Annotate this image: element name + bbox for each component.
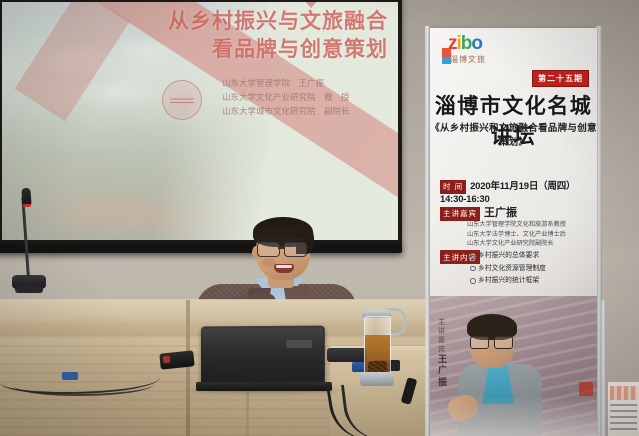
banner-photo-red-mark [579, 382, 593, 396]
banner-speaker-photo: 主讲嘉宾 王广振 [430, 296, 597, 436]
slide-credit-line: 山东大学城市文化研究院 副院长 [222, 104, 386, 118]
lecture-room-photo: 从乡村振兴与文旅融合 看品牌与创意策划 山东大学管理学院 王广振 山东大学文化产… [0, 0, 639, 436]
zibo-logo: zibo 淄博文旅 [448, 34, 512, 64]
secondary-poster-pole [601, 300, 606, 436]
microphone-led-indicator [23, 204, 31, 208]
speaker-name: 王广振 [484, 207, 517, 219]
topic-item: 乡村文化资源管理制度 [470, 263, 546, 276]
issue-number-badge: 第二十五期 [532, 70, 589, 87]
secondary-poster [608, 382, 639, 436]
microphone-base-lower [15, 286, 43, 293]
slide-credit-line: 山东大学文化产业研究院 教 授 [222, 90, 386, 104]
banner-photo-lens-right [494, 336, 513, 349]
banner-topic-list: 乡村振兴的总体要求 乡村文化资源管理制度 乡村振兴的统计框架 [470, 250, 546, 288]
zibo-letter-b: b [461, 33, 472, 54]
speaker-bio-line: 山东大学法学博士、文化产业博士后 [467, 230, 566, 240]
speaker-bio-line: 山东大学管理学院文化和旅游系教授 [467, 220, 566, 230]
projection-screen: 从乡村振兴与文旅融合 看品牌与创意策划 山东大学管理学院 王广振 山东大学文化产… [2, 2, 398, 240]
laptop-base[interactable] [196, 382, 332, 391]
phone-accessory [163, 356, 171, 364]
glasses-icon [256, 242, 310, 256]
secondary-poster-text-block [610, 404, 637, 430]
tumbler-base-ring [360, 372, 394, 386]
slide-credits: 山东大学管理学院 王广振 山东大学文化产业研究院 教 授 山东大学城市文化研究院… [176, 76, 386, 118]
banner-photo-mist-overlay [430, 396, 597, 436]
slide-credit-line: 山东大学管理学院 王广振 [222, 76, 386, 90]
banner-subtitle: 《从乡村振兴和文旅融合看品牌与创意策划》 [430, 120, 597, 148]
zibo-letter-o: o [471, 33, 482, 54]
zibo-logo-chinese: 淄博文旅 [450, 54, 486, 65]
table-seam [186, 300, 190, 436]
laptop-brand-logo [286, 340, 312, 348]
speaker-bio: 山东大学管理学院文化和旅游系教授 山东大学法学博士、文化产业博士后 山东大学文化… [467, 220, 566, 249]
zibo-logo-wordmark: zibo [448, 34, 482, 54]
glass-tea-tumbler [364, 316, 391, 380]
speaker-mouth [274, 264, 294, 273]
banner-photo-caption-tag: 主讲嘉宾 [438, 318, 448, 354]
zibo-letter-z: z [448, 33, 457, 54]
banner-photo-glasses-icon [470, 336, 514, 348]
secondary-poster-image-strip [610, 386, 637, 400]
topic-item: 乡村振兴的总体要求 [470, 250, 546, 263]
banner-photo-caption-name: 王广振 [438, 354, 448, 388]
banner-speaker-row: 主讲嘉宾王广振 [440, 204, 517, 221]
slide-title: 从乡村振兴与文旅融合 看品牌与创意策划 [140, 8, 388, 63]
banner-time-row: 时 间2020年11月19日（周四）14:30-16:30 [440, 178, 597, 205]
speaker-bio-line: 山东大学文化产业研究院副院长 [467, 239, 566, 249]
laptop-screen-back[interactable] [201, 326, 325, 387]
presenter-remote[interactable] [327, 348, 367, 362]
blue-desk-clip [62, 372, 78, 380]
time-label-tag: 时 间 [440, 180, 466, 194]
banner-photo-lens-left [470, 336, 489, 349]
slide-title-line1: 从乡村振兴与文旅融合 [140, 8, 388, 36]
topic-item: 乡村振兴的统计框架 [470, 275, 546, 288]
glasses-lens-left [257, 242, 280, 257]
glasses-lens-right [284, 242, 307, 257]
slide-title-line2: 看品牌与创意策划 [140, 36, 388, 64]
rollup-banner: zibo 淄博文旅 第二十五期 淄博市文化名城讲坛 《从乡村振兴和文旅融合看品牌… [430, 28, 597, 436]
speaker-label-tag: 主讲嘉宾 [440, 207, 480, 221]
